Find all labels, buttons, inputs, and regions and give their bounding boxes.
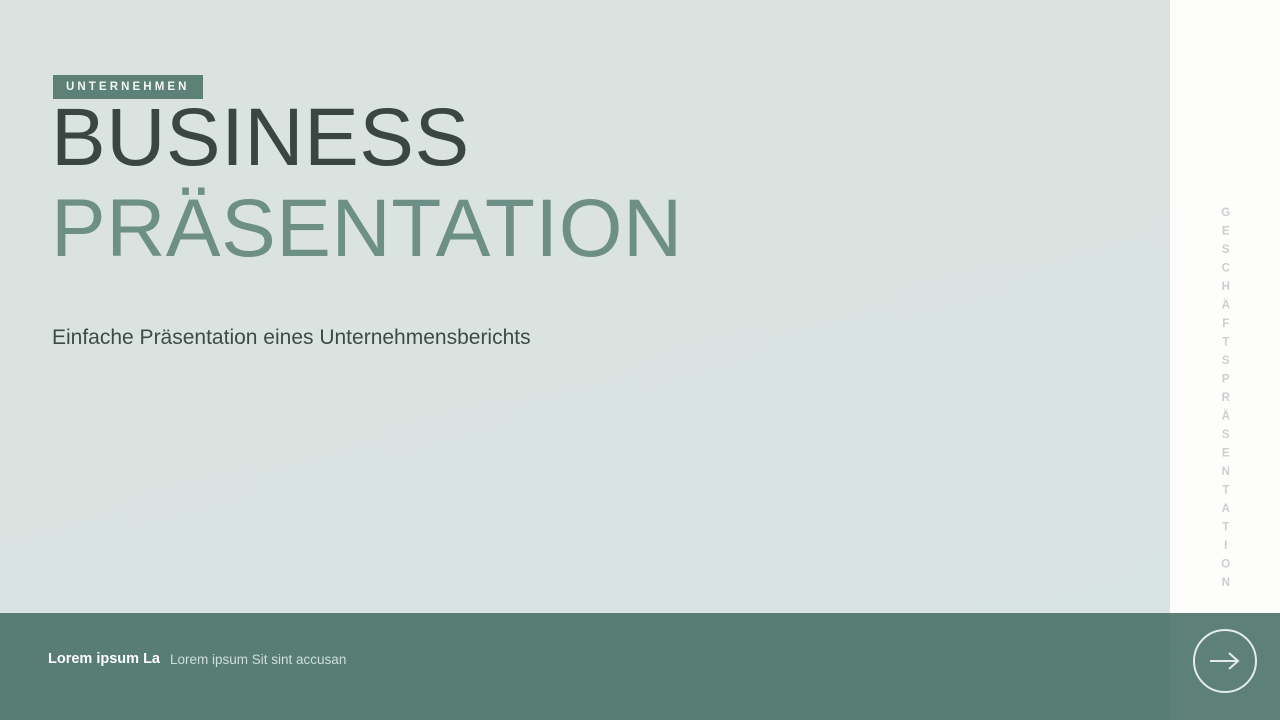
arrow-right-icon — [1208, 651, 1242, 671]
footer-primary-text: Lorem ipsum La — [48, 651, 160, 667]
title-line-1: BUSINESS — [51, 97, 470, 179]
title-line-2: PRÄSENTATION — [51, 188, 683, 270]
slide-subtitle: Einfache Präsentation eines Unternehmens… — [52, 324, 531, 351]
footer-secondary-text: Lorem ipsum Sit sint accusan — [170, 652, 346, 667]
right-side-panel — [1170, 0, 1280, 614]
presentation-slide: GESCHÄFTSPRÄSENTATION UNTERNEHMEN BUSINE… — [0, 0, 1280, 720]
next-slide-button[interactable] — [1193, 629, 1257, 693]
